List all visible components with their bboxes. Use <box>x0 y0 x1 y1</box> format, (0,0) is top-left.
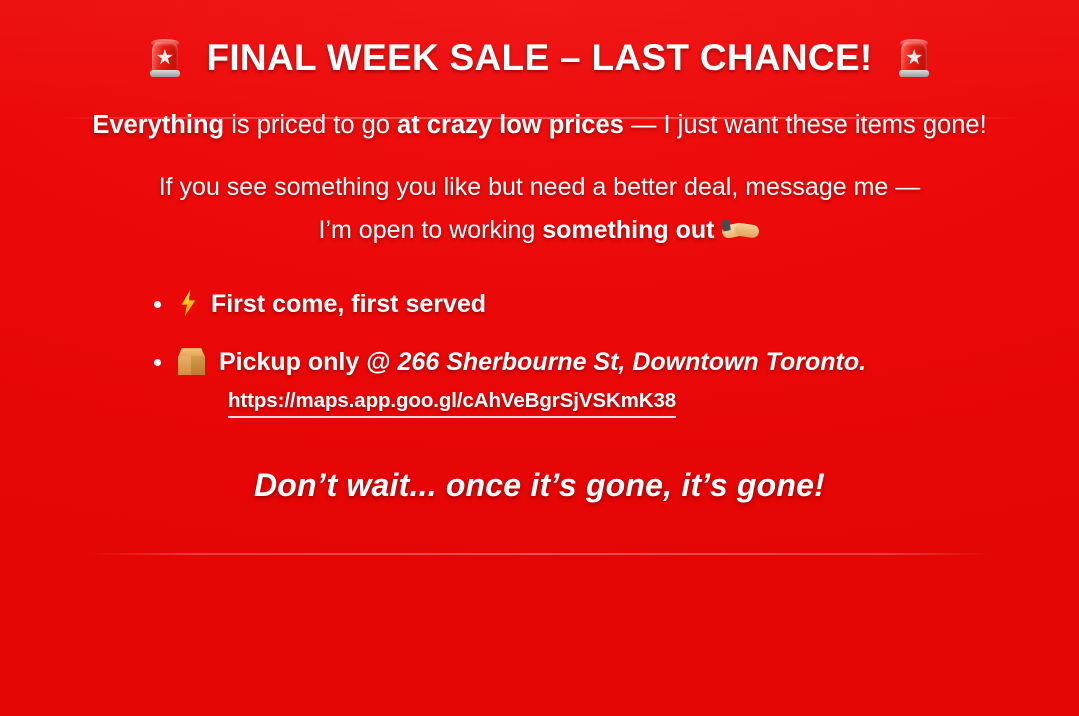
sale-flyer: FINAL WEEK SALE – LAST CHANCE! Everythin… <box>0 0 1079 716</box>
lead-part3: at crazy low prices <box>397 111 624 139</box>
closing-line: Don’t wait... once it’s gone, it’s gone! <box>0 444 1079 504</box>
package-icon <box>178 348 205 375</box>
list-item: Pickup only @ 266 Sherbourne St, Downtow… <box>150 346 870 418</box>
bullet-1-label: First come, first served <box>211 290 486 318</box>
offer-line2-bold: something out <box>542 216 714 244</box>
lead-part4: — I just want these items gone! <box>624 111 987 139</box>
lead-part1: Everything <box>92 111 224 139</box>
rotating-light-icon <box>899 39 929 77</box>
offer-line2-plain: I’m open to working <box>319 216 543 244</box>
divider-top <box>60 117 1019 119</box>
bullet-dot-icon <box>154 359 161 366</box>
bullet-2-prefix: Pickup only @ <box>219 348 398 376</box>
rotating-light-icon <box>150 39 180 77</box>
handshake-icon <box>722 218 760 242</box>
lead-part2: is priced to go <box>224 111 397 139</box>
lead-paragraph: Everything is priced to go at crazy low … <box>0 79 1079 142</box>
map-link-row: https://maps.app.goo.gl/cAhVeBgrSjVSKmK3… <box>176 379 870 419</box>
offer-line1: If you see something you like but need a… <box>159 173 921 201</box>
bullet-list: First come, first served Pickup only @ 2… <box>150 252 870 419</box>
divider-bottom <box>86 553 993 555</box>
map-link[interactable]: https://maps.app.goo.gl/cAhVeBgrSjVSKmK3… <box>228 388 676 419</box>
list-item: First come, first served <box>150 288 870 321</box>
pickup-address: 266 Sherbourne St, Downtown Toronto. <box>398 348 867 376</box>
bullet-dot-icon <box>154 301 161 308</box>
page-title: FINAL WEEK SALE – LAST CHANCE! <box>0 0 1079 79</box>
page-title-text: FINAL WEEK SALE – LAST CHANCE! <box>194 37 884 78</box>
offer-paragraph: If you see something you like but need a… <box>0 142 1079 252</box>
high-voltage-icon <box>178 290 198 317</box>
